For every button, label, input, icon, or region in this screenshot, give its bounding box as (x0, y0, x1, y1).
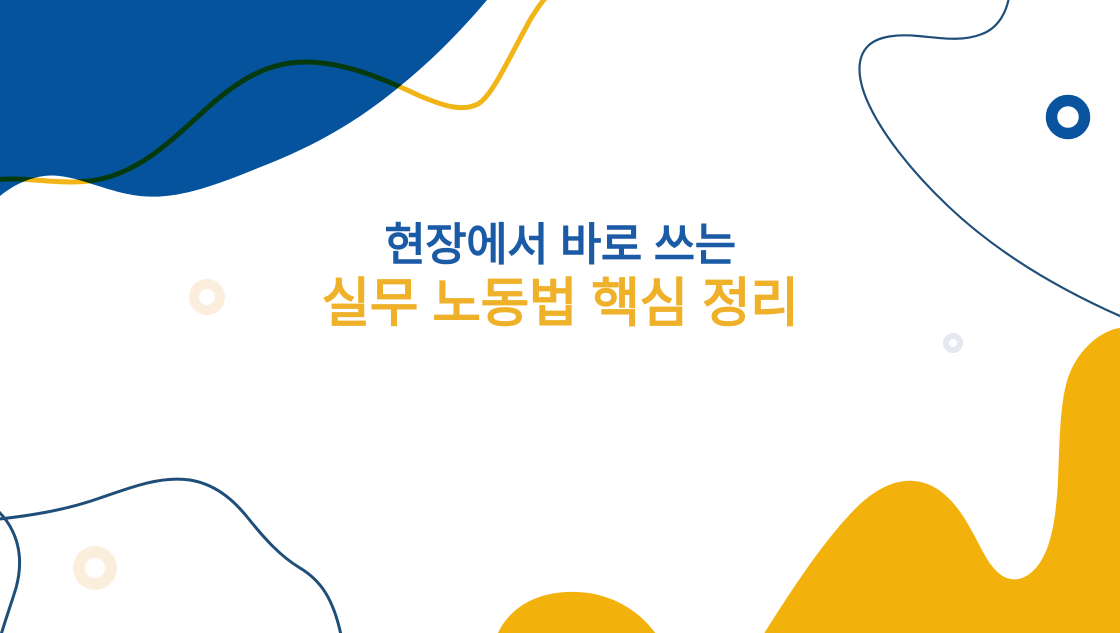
top-right-blue-ring (1052, 101, 1085, 134)
bottom-right-yellow-blob (760, 328, 1120, 633)
title-line-1: 현장에서 바로 쓰는 (0, 222, 1120, 267)
slide-title-block: 현장에서 바로 쓰는 실무 노동법 핵심 정리 (0, 222, 1120, 330)
top-left-blue-blob (0, 0, 487, 197)
bottom-left-blue-outline-curve-main (0, 479, 342, 633)
title-slide: 현장에서 바로 쓰는 실무 노동법 핵심 정리 (0, 0, 1120, 633)
top-left-yellow-wave-line (0, 0, 560, 182)
gray-ring-right (946, 336, 960, 350)
bottom-left-blue-outline-curve (0, 494, 19, 633)
bottom-center-yellow-bump (495, 592, 660, 633)
title-line-2: 실무 노동법 핵심 정리 (0, 277, 1120, 330)
cream-ring-bottom-left (79, 552, 111, 584)
